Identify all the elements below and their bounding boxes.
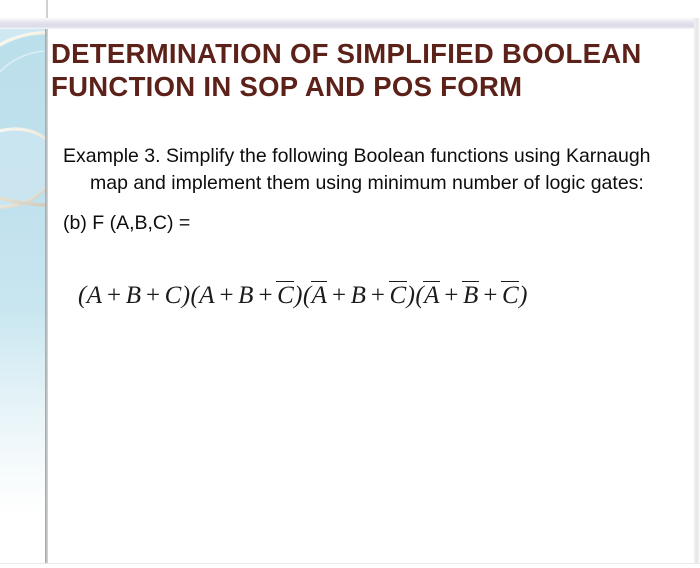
term-3-literal-C-complement: C [390, 281, 407, 310]
slide-title: DETERMINATION OF SIMPLIFIED BOOLEAN FUNC… [51, 37, 691, 103]
term-2-literal-C-complement: C [277, 281, 294, 310]
term-1-literal-A: A [87, 282, 103, 309]
term-3-literal-A-complement: A [312, 281, 328, 310]
term-2-literal-B: B [238, 282, 254, 309]
term-2-op-1: + [215, 282, 238, 309]
slide-title-line-1: DETERMINATION OF SIMPLIFIED BOOLEAN [51, 37, 691, 70]
term-4-literal-C-complement: C [502, 281, 519, 310]
slide-root: DETERMINATION OF SIMPLIFIED BOOLEAN FUNC… [0, 0, 700, 568]
term-4-op-2: + [479, 282, 502, 309]
term-2-open-paren: ( [190, 282, 199, 309]
term-3-op-2: + [366, 282, 389, 309]
top-gray-band [0, 18, 700, 29]
term-1-literal-C: C [165, 282, 182, 309]
term-2-op-2: + [254, 282, 277, 309]
boolean-expression: (A+B+C)(A+B+C)(A+B+C)(A+B+C) [78, 281, 528, 310]
term-1-op-1: + [102, 282, 125, 309]
part-b-label: (b) F (A,B,C) = [63, 210, 673, 237]
example-paragraph: Example 3. Simplify the following Boolea… [63, 143, 673, 197]
decorative-sidebar [0, 29, 47, 568]
top-white-strip [0, 0, 700, 18]
term-4-close-paren: ) [519, 282, 528, 309]
term-1-literal-B: B [126, 282, 142, 309]
term-4-op-1: + [440, 282, 463, 309]
slide-title-line-2: FUNCTION IN SOP AND POS FORM [51, 70, 691, 103]
term-2-literal-A: A [199, 282, 215, 309]
slide-body: Example 3. Simplify the following Boolea… [63, 143, 673, 237]
term-1-op-2: + [141, 282, 164, 309]
term-4-literal-B-complement: B [463, 281, 479, 310]
term-4-literal-A-complement: A [424, 281, 440, 310]
slide-canvas: DETERMINATION OF SIMPLIFIED BOOLEAN FUNC… [48, 29, 694, 568]
term-2-close-paren: ) [294, 282, 303, 309]
term-3-op-1: + [327, 282, 350, 309]
term-4-open-paren: ( [415, 282, 424, 309]
sidebar-ring-decoration [0, 29, 47, 568]
term-3-open-paren: ( [303, 282, 312, 309]
term-1-open-paren: ( [78, 282, 87, 309]
right-frame-border [694, 18, 700, 568]
bottom-frame-border [0, 563, 700, 568]
term-3-literal-B: B [351, 282, 367, 309]
top-frame-vertical-line [46, 0, 48, 18]
